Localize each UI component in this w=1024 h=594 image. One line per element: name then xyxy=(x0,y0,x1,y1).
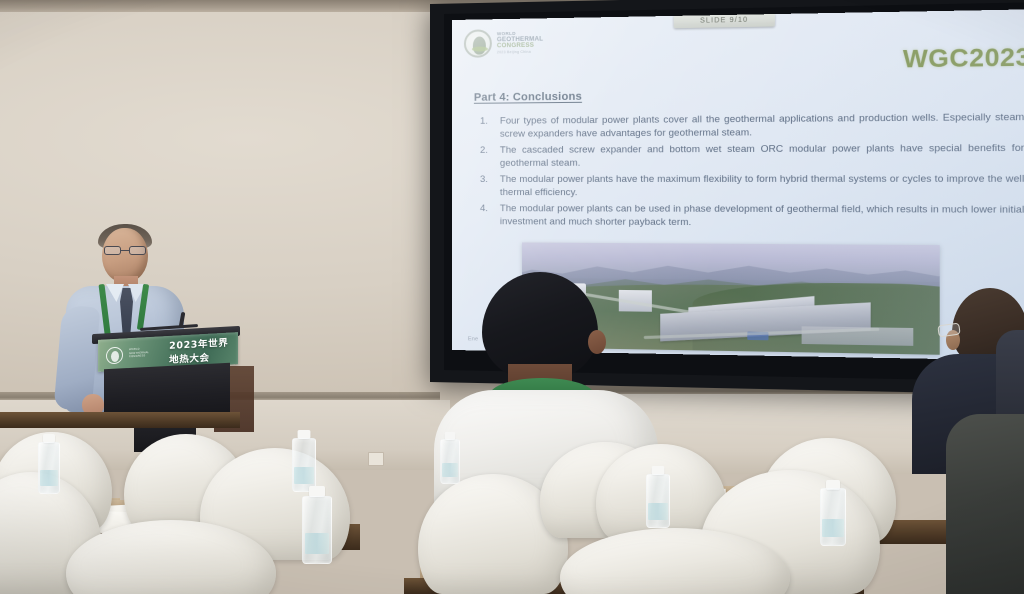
slide-title: Part 4: Conclusions xyxy=(474,91,582,104)
wgc-logo-line3: CONGRESS xyxy=(497,43,543,50)
wgc-logo-line4: 2023 Beijing China xyxy=(497,50,543,54)
slide-bullet-list: 1.Four types of modular power plants cov… xyxy=(474,112,1024,236)
water-bottle-5[interactable] xyxy=(820,480,846,546)
wgc-logo-text: WORLD GEOTHERMAL CONGRESS 2023 Beijing C… xyxy=(497,31,543,54)
water-bottle-3[interactable] xyxy=(302,486,332,564)
bottle-label xyxy=(442,463,458,477)
slide-bullet-number: 1. xyxy=(474,116,488,141)
slide-bullet-number: 2. xyxy=(474,145,488,170)
bottle-label xyxy=(648,503,667,520)
water-bottle-1[interactable] xyxy=(38,434,60,494)
speaker-head xyxy=(102,228,148,282)
slide-bullet-2: 2.The cascaded screw expander and bottom… xyxy=(474,143,1024,171)
wgc-logo: WORLD GEOTHERMAL CONGRESS 2023 Beijing C… xyxy=(464,28,543,57)
speaker-glasses-icon xyxy=(104,246,146,255)
bottle-body xyxy=(302,496,332,564)
wgc-brand-text: WGC2023 xyxy=(903,43,1024,74)
water-bottle-2[interactable] xyxy=(292,430,316,492)
slide-title-text: Part 4: Conclusions xyxy=(474,91,582,104)
podium-logo-text: WORLD GEOTHERMAL CONGRESS xyxy=(129,348,149,359)
podium-logo-icon xyxy=(106,346,123,364)
podium-logo-line3: CONGRESS xyxy=(129,355,149,359)
podium: WORLD GEOTHERMAL CONGRESS 2023年世界地热大会 xyxy=(92,330,240,450)
bottle-label xyxy=(822,519,843,537)
projector-osd-badge: SLIDE 9/10 xyxy=(674,13,775,28)
wgc-logo-mark-icon xyxy=(464,29,492,58)
water-bottle-6[interactable] xyxy=(440,432,460,484)
slide-bullet-3: 3.The modular power plants have the maxi… xyxy=(474,173,1024,200)
conference-room-photo: WORLD GEOTHERMAL CONGRESS 2023 Beijing C… xyxy=(0,0,1024,594)
slide-bullet-text: The cascaded screw expander and bottom w… xyxy=(500,143,1024,171)
bottle-body xyxy=(440,439,460,484)
slide-bullet-number: 4. xyxy=(474,203,488,228)
audience-far-right-person xyxy=(946,414,1024,594)
bottle-body xyxy=(38,442,60,494)
slide-bullet-text: The modular power plants have the maximu… xyxy=(500,173,1024,200)
bottle-label xyxy=(40,470,58,486)
podium-banner-text: 2023年世界地热大会 xyxy=(169,334,238,366)
slide-bullet-1: 1.Four types of modular power plants cov… xyxy=(474,112,1024,141)
bottle-label xyxy=(294,467,313,484)
water-bottle-4[interactable] xyxy=(646,466,670,528)
slide-bullet-number: 3. xyxy=(474,174,488,199)
audience-center-ear xyxy=(588,330,606,354)
bottle-label xyxy=(305,533,330,554)
slide-bullet-4: 4.The modular power plants can be used i… xyxy=(474,203,1024,231)
wall-outlet-left xyxy=(368,452,384,466)
slide-bullet-text: The modular power plants can be used in … xyxy=(500,203,1024,231)
table-back-left xyxy=(0,412,240,428)
bottle-body xyxy=(820,488,846,546)
bottle-body xyxy=(646,474,670,528)
bottle-body xyxy=(292,438,316,492)
slide-bullet-text: Four types of modular power plants cover… xyxy=(500,112,1024,141)
